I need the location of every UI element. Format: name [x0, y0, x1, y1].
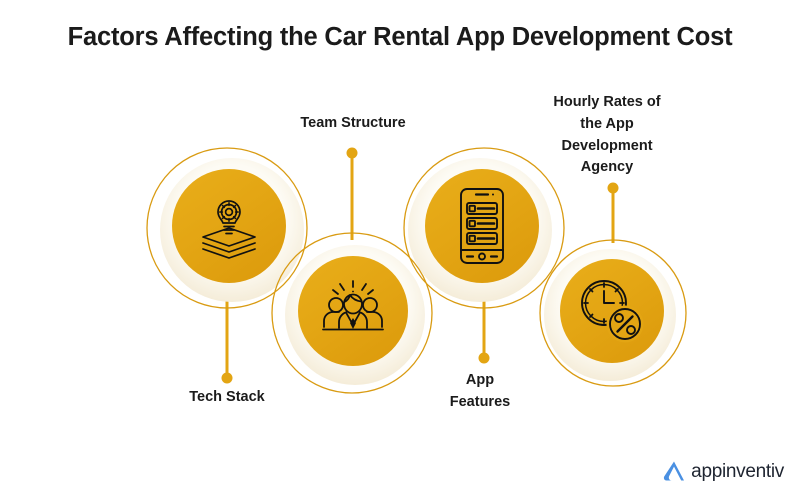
app-features-disc: [425, 169, 539, 283]
brand-logo[interactable]: appinventiv: [661, 458, 784, 484]
label-app-features: App Features: [420, 370, 540, 414]
label-tech-stack: Tech Stack: [146, 387, 308, 409]
infographic-artwork: [0, 0, 800, 498]
label-hourly-rates: Hourly Rates of the App Development Agen…: [524, 92, 690, 179]
team-structure-disc: [298, 256, 408, 366]
appinventiv-a-mark-icon: [661, 458, 687, 484]
infographic-canvas: Factors Affecting the Car Rental App Dev…: [0, 0, 800, 498]
brand-name: appinventiv: [691, 462, 784, 481]
label-team-structure: Team Structure: [272, 113, 434, 135]
